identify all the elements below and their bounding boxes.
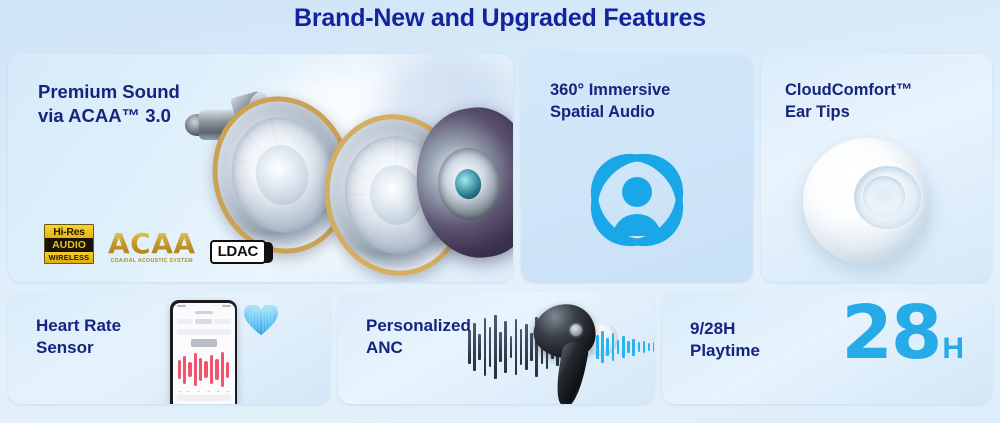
phone-heart-rate-chart xyxy=(178,350,230,390)
card-title-heart-rate: Heart Rate Sensor xyxy=(36,315,121,360)
silicone-ear-tip-image xyxy=(803,138,931,264)
feature-infographic: Brand-New and Upgraded Features Premium … xyxy=(0,0,1000,423)
phone-chart-axis xyxy=(173,390,235,394)
phone-nav-bar xyxy=(173,309,235,317)
phone-bpm-value xyxy=(191,339,217,347)
card-title-spatial-audio: 360° Immersive Spatial Audio xyxy=(550,80,670,124)
heart-icon xyxy=(244,305,278,336)
acaa-badge-tagline: COAXIAL ACOUSTIC SYSTEM xyxy=(108,259,196,264)
card-title-premium-sound: Premium Sound via ACAA™ 3.0 xyxy=(38,80,180,129)
feature-card-playtime: 9/28H Playtime 28 H xyxy=(662,292,992,404)
feature-card-personalized-anc: Personalized ANC xyxy=(338,292,654,404)
ldac-badge-label: LDAC xyxy=(210,240,266,264)
feature-card-heart-rate: Heart Rate Sensor xyxy=(8,292,330,404)
page-title: Brand-New and Upgraded Features xyxy=(0,4,1000,33)
hi-res-audio-wireless-badge: Hi-Res AUDIO WIRELESS xyxy=(44,224,94,264)
card-title-playtime: 9/28H Playtime xyxy=(690,318,760,363)
feature-card-ear-tips: CloudComfort™ Ear Tips xyxy=(761,54,992,282)
ldac-badge: LDAC xyxy=(210,240,273,264)
certification-badges: Hi-Res AUDIO WIRELESS ACAA COAXIAL ACOUS… xyxy=(44,224,273,264)
acaa-badge: ACAA COAXIAL ACOUSTIC SYSTEM xyxy=(108,230,196,264)
hi-res-badge-line3: WIRELESS xyxy=(45,252,93,263)
playtime-hours-unit: H xyxy=(942,332,964,366)
phone-mockup xyxy=(170,300,237,404)
feature-card-spatial-audio: 360° Immersive Spatial Audio xyxy=(521,54,753,282)
phone-tab-bar xyxy=(173,317,235,326)
hi-res-badge-line2: AUDIO xyxy=(45,238,93,252)
acaa-badge-name: ACAA xyxy=(108,230,196,258)
ldac-badge-tab xyxy=(264,242,273,263)
hi-res-badge-line1: Hi-Res xyxy=(45,225,93,238)
spatial-audio-icon xyxy=(573,136,701,269)
playtime-hours-value: 28 xyxy=(841,296,940,370)
playtime-hours-display: 28 H xyxy=(841,296,964,370)
noise-waveform-cyan xyxy=(596,330,654,364)
card-title-ear-tips: CloudComfort™ Ear Tips xyxy=(785,80,912,124)
phone-date-row xyxy=(177,329,231,335)
card-title-personalized-anc: Personalized ANC xyxy=(366,315,471,360)
phone-footer-row xyxy=(177,395,231,401)
feature-card-premium-sound: Premium Sound via ACAA™ 3.0 xyxy=(8,54,513,282)
phone-screen xyxy=(173,303,235,405)
